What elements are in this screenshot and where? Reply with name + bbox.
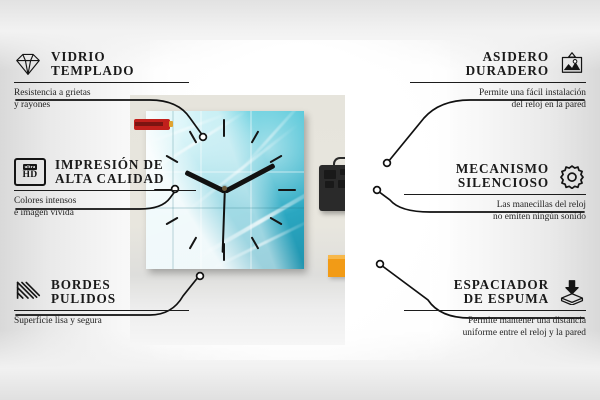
feature-title-line2: DE ESPUMA	[454, 292, 549, 306]
ultra-hd-icon-bottom: HD	[23, 170, 38, 180]
gear-icon	[558, 163, 586, 189]
feature-desc-line2: del reloj en la pared	[410, 99, 586, 111]
feature-desc-line1: Colores intensos	[14, 195, 196, 207]
feature-title-line1: ASIDERO	[466, 50, 549, 64]
feature-rule	[14, 190, 196, 191]
feature-rule	[404, 194, 586, 195]
clock-center-pin	[222, 186, 227, 191]
feature-title-line2: TEMPLADO	[51, 64, 134, 78]
feature-desc-line2: e imagen vívida	[14, 207, 196, 219]
feature-desc-line2: no emiten ningún sonido	[404, 211, 586, 223]
clock-tick-12	[223, 119, 225, 137]
foam-spacer-icon	[558, 279, 586, 305]
ultra-hd-icon: ultra HD	[14, 158, 46, 186]
feature-title-line2: PULIDOS	[51, 292, 116, 306]
feature-espaciador-de-espuma: ESPACIADOR DE ESPUMA Permite mantener un…	[404, 278, 586, 339]
feature-title-line1: MECANISMO	[456, 162, 549, 176]
feature-desc-line2: uniforme entre el reloj y la pared	[404, 327, 586, 339]
feature-desc-line1: Permite mantener una distancia	[404, 315, 586, 327]
feature-vidrio-templado: VIDRIO TEMPLADO Resistencia a grietas y …	[14, 50, 189, 111]
diamond-icon	[14, 51, 42, 77]
feature-impresion-alta-calidad: ultra HD IMPRESIÓN DE ALTA CALIDAD Color…	[14, 158, 196, 219]
feature-title-line1: ESPACIADOR	[454, 278, 549, 292]
feature-title-line1: BORDES	[51, 278, 116, 292]
feature-desc-line1: Resistencia a grietas	[14, 87, 189, 99]
feature-bordes-pulidos: BORDES PULIDOS Superficie lisa y segura	[14, 278, 189, 327]
feature-asidero-duradero: ASIDERO DURADERO Permite una fácil insta…	[410, 50, 586, 111]
mechanism-hook	[333, 157, 345, 169]
clock-tick-3	[278, 189, 296, 191]
feature-rule	[404, 310, 586, 311]
feature-title-line2: SILENCIOSO	[456, 176, 549, 190]
infographic-canvas: VIDRIO TEMPLADO Resistencia a grietas y …	[0, 0, 600, 400]
battery-terminal	[169, 121, 173, 127]
feature-desc-line1: Las manecillas del reloj	[404, 199, 586, 211]
feature-rule	[14, 310, 189, 311]
battery-label	[135, 122, 163, 126]
foam-spacer-top-face	[328, 255, 345, 259]
feature-rule	[14, 82, 189, 83]
feature-title-line2: DURADERO	[466, 64, 549, 78]
feature-title-line2: ALTA CALIDAD	[55, 172, 164, 186]
feature-desc-line1: Superficie lisa y segura	[14, 315, 189, 327]
feature-title-line1: VIDRIO	[51, 50, 134, 64]
feature-rule	[410, 82, 586, 83]
feature-desc-line1: Permite una fácil instalación	[410, 87, 586, 99]
clock-mechanism	[319, 165, 345, 211]
feature-title-line1: IMPRESIÓN DE	[55, 158, 164, 172]
polished-edges-icon	[14, 279, 42, 305]
hanging-frame-icon	[558, 51, 586, 77]
feature-mecanismo-silencioso: MECANISMO SILENCIOSO Las manecillas del …	[404, 162, 586, 223]
feature-desc-line2: y rayones	[14, 99, 189, 111]
